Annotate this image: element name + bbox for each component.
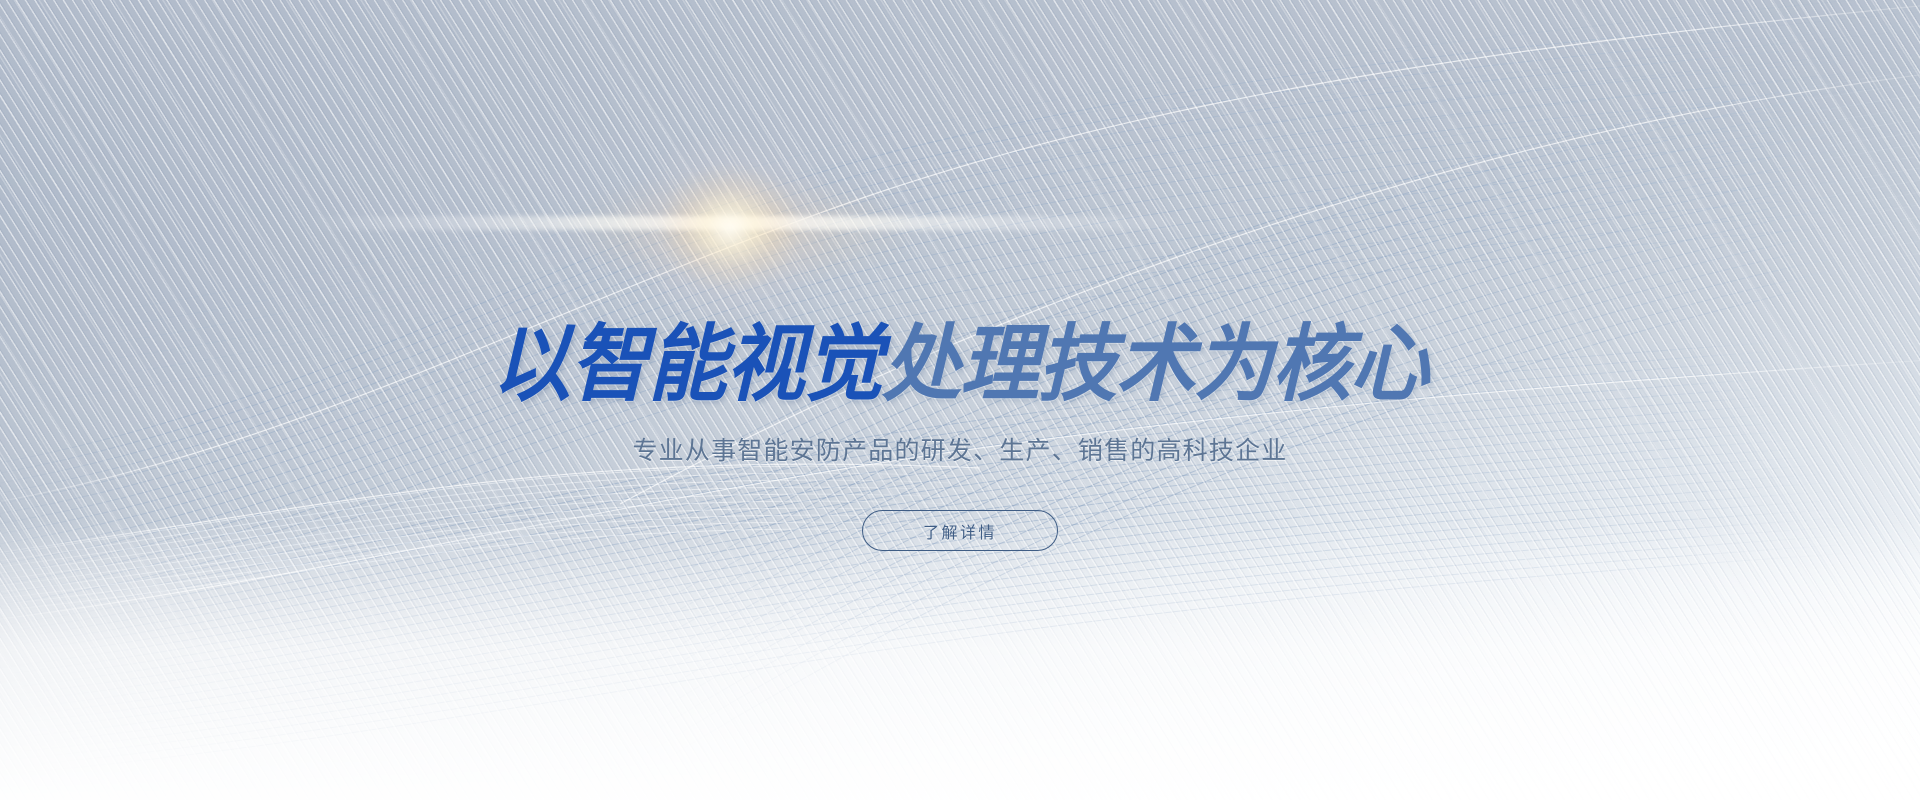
headline-segment-primary: 以智能视觉 bbox=[492, 315, 882, 413]
hero-subtitle: 专业从事智能安防产品的研发、生产、销售的高科技企业 bbox=[0, 433, 1920, 469]
cta-container: 了解详情 bbox=[0, 510, 1920, 551]
hero-content: 以智能视觉处理技术为核心 专业从事智能安防产品的研发、生产、销售的高科技企业 了… bbox=[0, 0, 1920, 800]
headline-segment-secondary: 处理技术为核心 bbox=[882, 315, 1428, 413]
hero-headline: 以智能视觉处理技术为核心 bbox=[58, 318, 1863, 410]
hero-banner: 以智能视觉处理技术为核心 专业从事智能安防产品的研发、生产、销售的高科技企业 了… bbox=[0, 0, 1920, 800]
learn-more-button[interactable]: 了解详情 bbox=[862, 510, 1058, 551]
